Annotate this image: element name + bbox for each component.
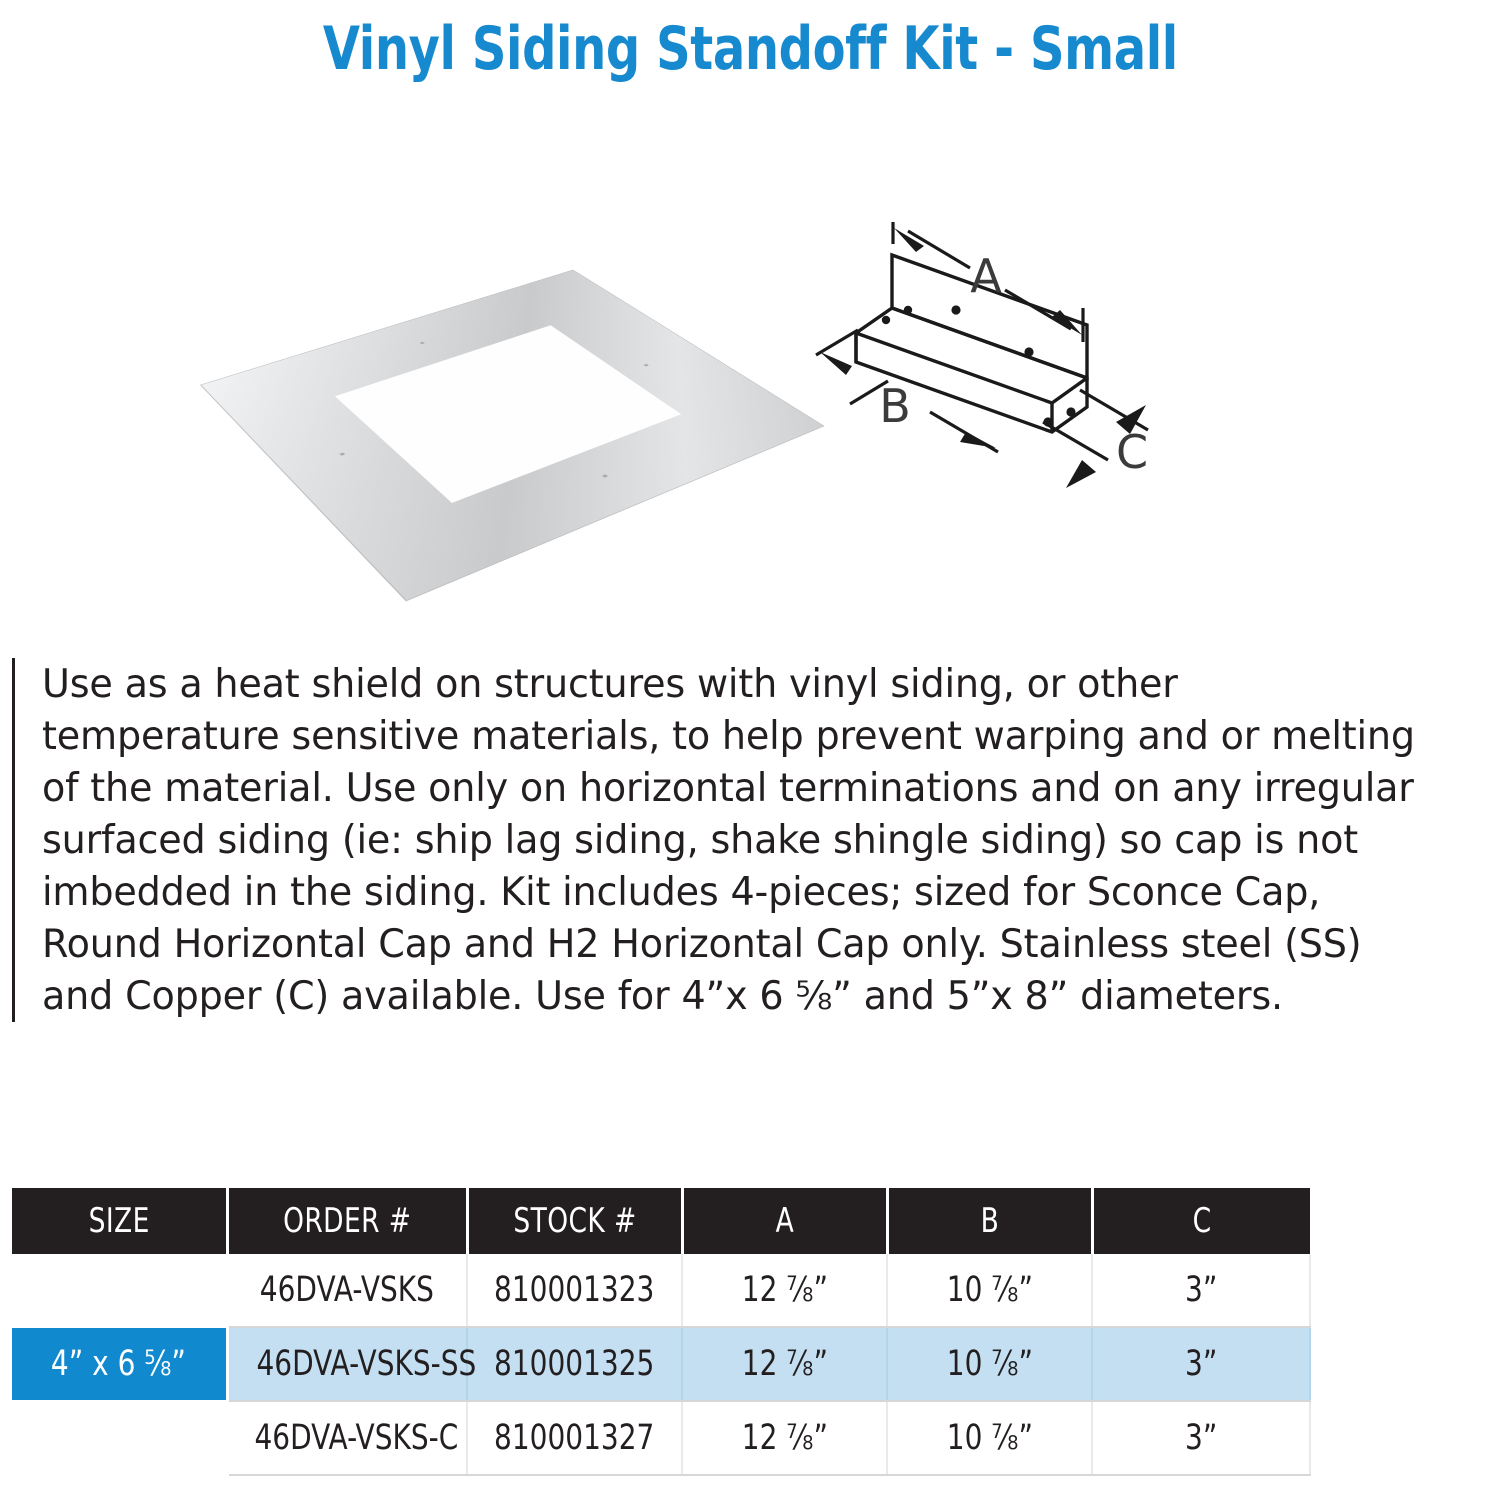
cell-size: 4” x 6 ⅝” — [12, 1401, 227, 1475]
cell-size-value: 4” x 6 ⅝” — [51, 1418, 186, 1458]
table-header-row: SIZE ORDER # STOCK # A B C — [12, 1188, 1310, 1254]
column-header-size-label: SIZE — [88, 1201, 149, 1241]
cell-a-value: 12 ⅞” — [741, 1418, 827, 1458]
column-header-stock-label: STOCK # — [513, 1201, 636, 1241]
description-block: Use as a heat shield on structures with … — [12, 658, 1477, 1022]
page-title-bar: Vinyl Siding Standoff Kit - Small — [0, 14, 1500, 84]
table-row: 4” x 6 ⅝” 46DVA-VSKS 810001323 12 ⅞” 10 … — [12, 1254, 1310, 1327]
column-header-a: A — [682, 1188, 887, 1254]
cell-a: 12 ⅞” — [682, 1254, 887, 1327]
dimension-b-arrow-right — [960, 432, 996, 448]
cell-b-value: 10 ⅞” — [946, 1344, 1032, 1384]
column-header-stock: STOCK # — [467, 1188, 682, 1254]
dimension-c-arrow-lower — [1066, 460, 1096, 488]
cell-stock: 810001323 — [467, 1254, 682, 1327]
table-row: 4” x 6 ⅝” 46DVA-VSKS-SS 810001325 12 ⅞” … — [12, 1327, 1310, 1401]
cell-b: 10 ⅞” — [887, 1401, 1092, 1475]
cell-stock-value: 810001323 — [494, 1270, 654, 1310]
standoff-collar-3d — [255, 292, 763, 557]
rivet-holes — [882, 305, 1076, 426]
cell-order: 46DVA-VSKS — [227, 1254, 467, 1327]
dimension-label-a: A — [970, 249, 1002, 303]
cell-b: 10 ⅞” — [887, 1254, 1092, 1327]
cell-c: 3” — [1092, 1254, 1310, 1327]
cell-b-value: 10 ⅞” — [946, 1270, 1032, 1310]
product-photo-stage — [270, 210, 740, 610]
cell-order: 46DVA-VSKS-SS — [227, 1327, 467, 1401]
cell-size: 4” x 6 ⅝” — [12, 1254, 227, 1327]
cell-a: 12 ⅞” — [682, 1327, 887, 1401]
cell-a-value: 12 ⅞” — [741, 1344, 827, 1384]
description-text: Use as a heat shield on structures with … — [15, 658, 1426, 1022]
column-header-order-label: ORDER # — [283, 1201, 411, 1241]
cell-size-value: 4” x 6 ⅝” — [51, 1344, 186, 1384]
dimension-label-c: C — [1116, 425, 1148, 479]
cell-c-value: 3” — [1185, 1344, 1217, 1384]
cell-b-value: 10 ⅞” — [946, 1418, 1032, 1458]
dimension-label-b: B — [879, 379, 911, 433]
column-header-size: SIZE — [12, 1188, 227, 1254]
cell-b: 10 ⅞” — [887, 1327, 1092, 1401]
cell-order-value: 46DVA-VSKS — [260, 1270, 434, 1310]
cell-size: 4” x 6 ⅝” — [12, 1327, 227, 1401]
cell-c-value: 3” — [1185, 1418, 1217, 1458]
cell-c: 3” — [1092, 1401, 1310, 1475]
column-header-order: ORDER # — [227, 1188, 467, 1254]
cell-order-value: 46DVA-VSKS-SS — [256, 1344, 476, 1384]
column-header-b: B — [887, 1188, 1092, 1254]
dimension-drawing-svg: A B C — [790, 200, 1210, 530]
table-row: 4” x 6 ⅝” 46DVA-VSKS-C 810001327 12 ⅞” 1… — [12, 1401, 1310, 1475]
dimension-b-arrow-left — [820, 352, 852, 375]
cell-stock: 810001327 — [467, 1401, 682, 1475]
cell-stock: 810001325 — [467, 1327, 682, 1401]
cell-order-value: 46DVA-VSKS-C — [254, 1418, 458, 1458]
product-image-band: A B C — [0, 200, 1500, 630]
column-header-a-label: A — [775, 1201, 794, 1241]
cell-size-value: 4” x 6 ⅝” — [51, 1270, 186, 1310]
column-header-b-label: B — [980, 1201, 999, 1241]
cell-c: 3” — [1092, 1327, 1310, 1401]
column-header-c: C — [1092, 1188, 1310, 1254]
column-header-c-label: C — [1192, 1201, 1211, 1241]
cell-a-value: 12 ⅞” — [741, 1270, 827, 1310]
cell-a: 12 ⅞” — [682, 1401, 887, 1475]
dimension-drawing: A B C — [790, 200, 1210, 530]
cell-stock-value: 810001327 — [494, 1418, 654, 1458]
cell-stock-value: 810001325 — [494, 1344, 654, 1384]
page-title: Vinyl Siding Standoff Kit - Small — [323, 14, 1178, 84]
cell-order: 46DVA-VSKS-C — [227, 1401, 467, 1475]
cell-c-value: 3” — [1185, 1270, 1217, 1310]
flange-plate — [200, 270, 825, 602]
specification-table: SIZE ORDER # STOCK # A B C 4” x 6 ⅝” — [12, 1188, 1311, 1476]
product-photo — [270, 210, 740, 610]
